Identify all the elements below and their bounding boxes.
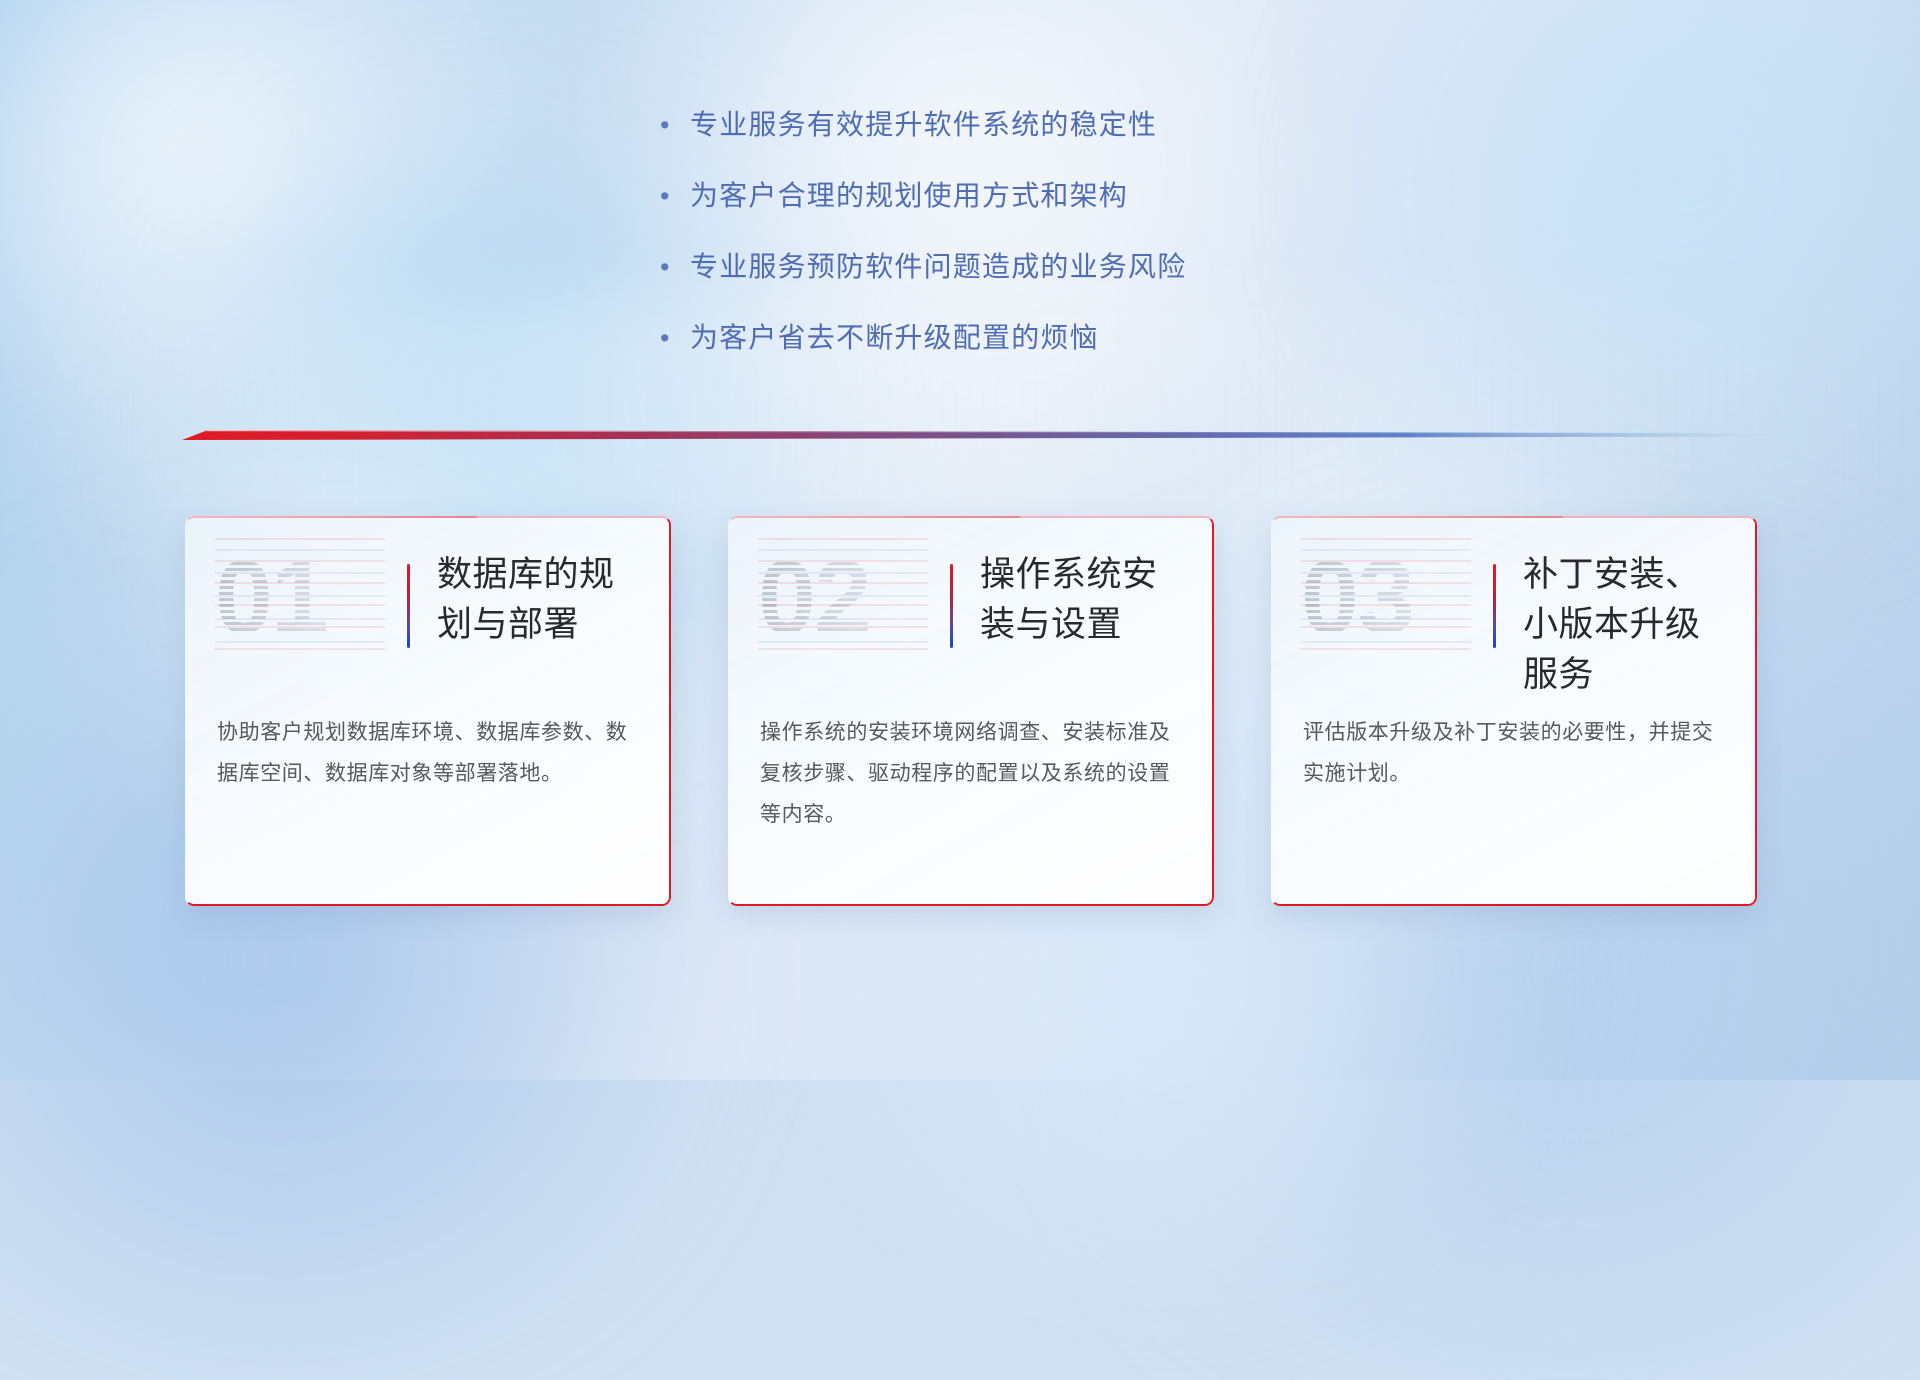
- slide-content: • 专业服务有效提升软件系统的稳定性 • 为客户合理的规划使用方式和架构 • 专…: [0, 0, 1920, 1080]
- card-title-rule: [950, 564, 953, 648]
- card-body-text: 操作系统的安装环境网络调查、安装标准及复核步骤、驱动程序的配置以及系统的设置等内…: [760, 712, 1180, 835]
- card-number-watermark: 03: [1301, 538, 1471, 658]
- card-number-watermark: 01: [215, 538, 385, 658]
- card-01[interactable]: 01 数据库的规划与部署 协助客户规划数据库环境、数据库参数、数据库空间、数据库…: [185, 516, 671, 906]
- bullet-text: 专业服务预防软件问题造成的业务风险: [690, 247, 1186, 287]
- list-item: • 为客户省去不断升级配置的烦恼: [660, 318, 1186, 358]
- bullet-text: 为客户合理的规划使用方式和架构: [690, 176, 1128, 216]
- card-header: 02 操作系统安装与设置: [728, 516, 1214, 698]
- card-list: 01 数据库的规划与部署 协助客户规划数据库环境、数据库参数、数据库空间、数据库…: [185, 516, 1757, 906]
- card-title-rule: [407, 564, 410, 648]
- bullet-marker-icon: •: [660, 176, 690, 216]
- card-title: 数据库的规划与部署: [437, 550, 649, 650]
- card-03[interactable]: 03 补丁安装、小版本升级服务 评估版本升级及补丁安装的必要性，并提交实施计划。: [1271, 516, 1757, 906]
- card-title-rule: [1493, 564, 1496, 648]
- bullet-marker-icon: •: [660, 247, 690, 287]
- card-body-text: 协助客户规划数据库环境、数据库参数、数据库空间、数据库对象等部署落地。: [217, 712, 637, 794]
- bullet-list: • 专业服务有效提升软件系统的稳定性 • 为客户合理的规划使用方式和架构 • 专…: [660, 105, 1186, 389]
- bullet-text: 专业服务有效提升软件系统的稳定性: [690, 105, 1157, 145]
- card-title: 操作系统安装与设置: [980, 550, 1192, 650]
- bullet-marker-icon: •: [660, 318, 690, 358]
- card-body-text: 评估版本升级及补丁安装的必要性，并提交实施计划。: [1303, 712, 1723, 794]
- card-02[interactable]: 02 操作系统安装与设置 操作系统的安装环境网络调查、安装标准及复核步骤、驱动程…: [728, 516, 1214, 906]
- bullet-marker-icon: •: [660, 105, 690, 145]
- list-item: • 专业服务有效提升软件系统的稳定性: [660, 105, 1186, 145]
- bullet-text: 为客户省去不断升级配置的烦恼: [690, 318, 1099, 358]
- card-number-watermark: 02: [758, 538, 928, 658]
- divider: [182, 424, 1792, 446]
- list-item: • 专业服务预防软件问题造成的业务风险: [660, 247, 1186, 287]
- card-title: 补丁安装、小版本升级服务: [1523, 550, 1735, 700]
- card-header: 03 补丁安装、小版本升级服务: [1271, 516, 1757, 698]
- list-item: • 为客户合理的规划使用方式和架构: [660, 176, 1186, 216]
- divider-wedge-icon: [182, 424, 1792, 446]
- card-header: 01 数据库的规划与部署: [185, 516, 671, 698]
